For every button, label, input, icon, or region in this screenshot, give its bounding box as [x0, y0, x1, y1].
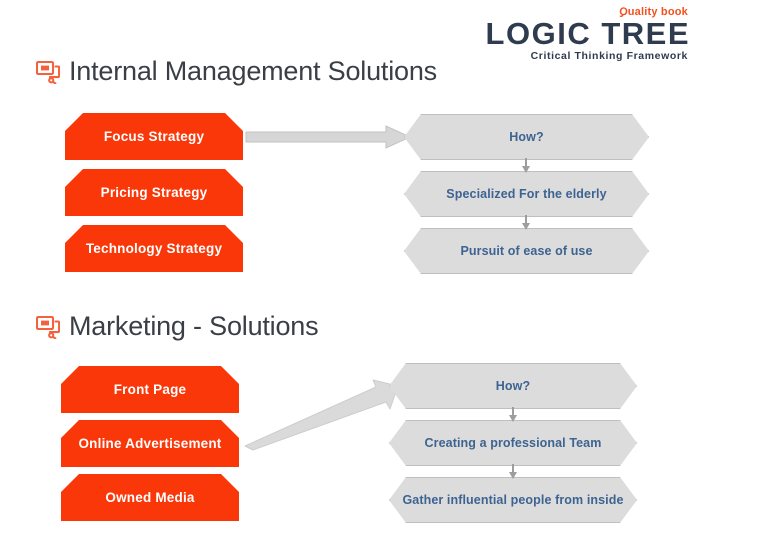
node-label: How? — [509, 130, 543, 144]
banner-front-page[interactable]: Front Page — [61, 366, 239, 413]
connector-arrow-down-2b — [508, 464, 518, 479]
banner-label: Front Page — [114, 382, 187, 397]
banner-technology-strategy[interactable]: Technology Strategy — [65, 225, 243, 272]
node-label: Specialized For the elderly — [446, 187, 606, 201]
connector-arrow-diagonal-section2 — [243, 378, 398, 450]
node-label: How? — [496, 379, 530, 393]
banner-pricing-strategy[interactable]: Pricing Strategy — [65, 169, 243, 216]
section-title: Internal Management Solutions — [69, 56, 437, 87]
node-label: Gather influential people from inside — [402, 493, 623, 507]
logo-q-mark: Q — [618, 5, 628, 18]
screens-icon — [36, 315, 60, 339]
node-how-section2[interactable]: How? — [389, 363, 637, 409]
screens-icon — [36, 60, 60, 84]
banner-focus-strategy[interactable]: Focus Strategy — [65, 113, 243, 160]
node-gather-influential-people-from-inside[interactable]: Gather influential people from inside — [389, 477, 637, 523]
node-label: Creating a professional Team — [425, 436, 602, 450]
logo: Quality book LOGIC TREE Critical Thinkin… — [430, 6, 690, 63]
node-pursuit-of-ease-of-use[interactable]: Pursuit of ease of use — [404, 228, 649, 274]
node-label: Pursuit of ease of use — [460, 244, 592, 258]
banner-label: Online Advertisement — [78, 436, 221, 451]
logo-title: LOGIC TREE — [430, 18, 690, 50]
banner-label: Focus Strategy — [104, 129, 204, 144]
section-heading-marketing-solutions: Marketing - Solutions — [36, 311, 318, 342]
node-how-section1[interactable]: How? — [404, 114, 649, 160]
connector-arrow-down-2a — [508, 407, 518, 422]
section-title: Marketing - Solutions — [69, 311, 318, 342]
connector-arrow-down-1b — [521, 215, 531, 230]
node-creating-a-professional-team[interactable]: Creating a professional Team — [389, 420, 637, 466]
section-heading-internal-management: Internal Management Solutions — [36, 56, 437, 87]
banner-owned-media[interactable]: Owned Media — [61, 474, 239, 521]
logo-subtitle: Critical Thinking Framework — [430, 50, 690, 63]
connector-arrow-down-1a — [521, 158, 531, 173]
banner-label: Pricing Strategy — [101, 185, 208, 200]
banner-label: Technology Strategy — [86, 241, 222, 256]
node-specialized-for-the-elderly[interactable]: Specialized For the elderly — [404, 171, 649, 217]
banner-online-advertisement[interactable]: Online Advertisement — [61, 420, 239, 467]
slide-canvas: Quality book LOGIC TREE Critical Thinkin… — [0, 0, 768, 541]
connector-arrow-horizontal-section1 — [246, 126, 410, 148]
banner-label: Owned Media — [105, 490, 194, 505]
